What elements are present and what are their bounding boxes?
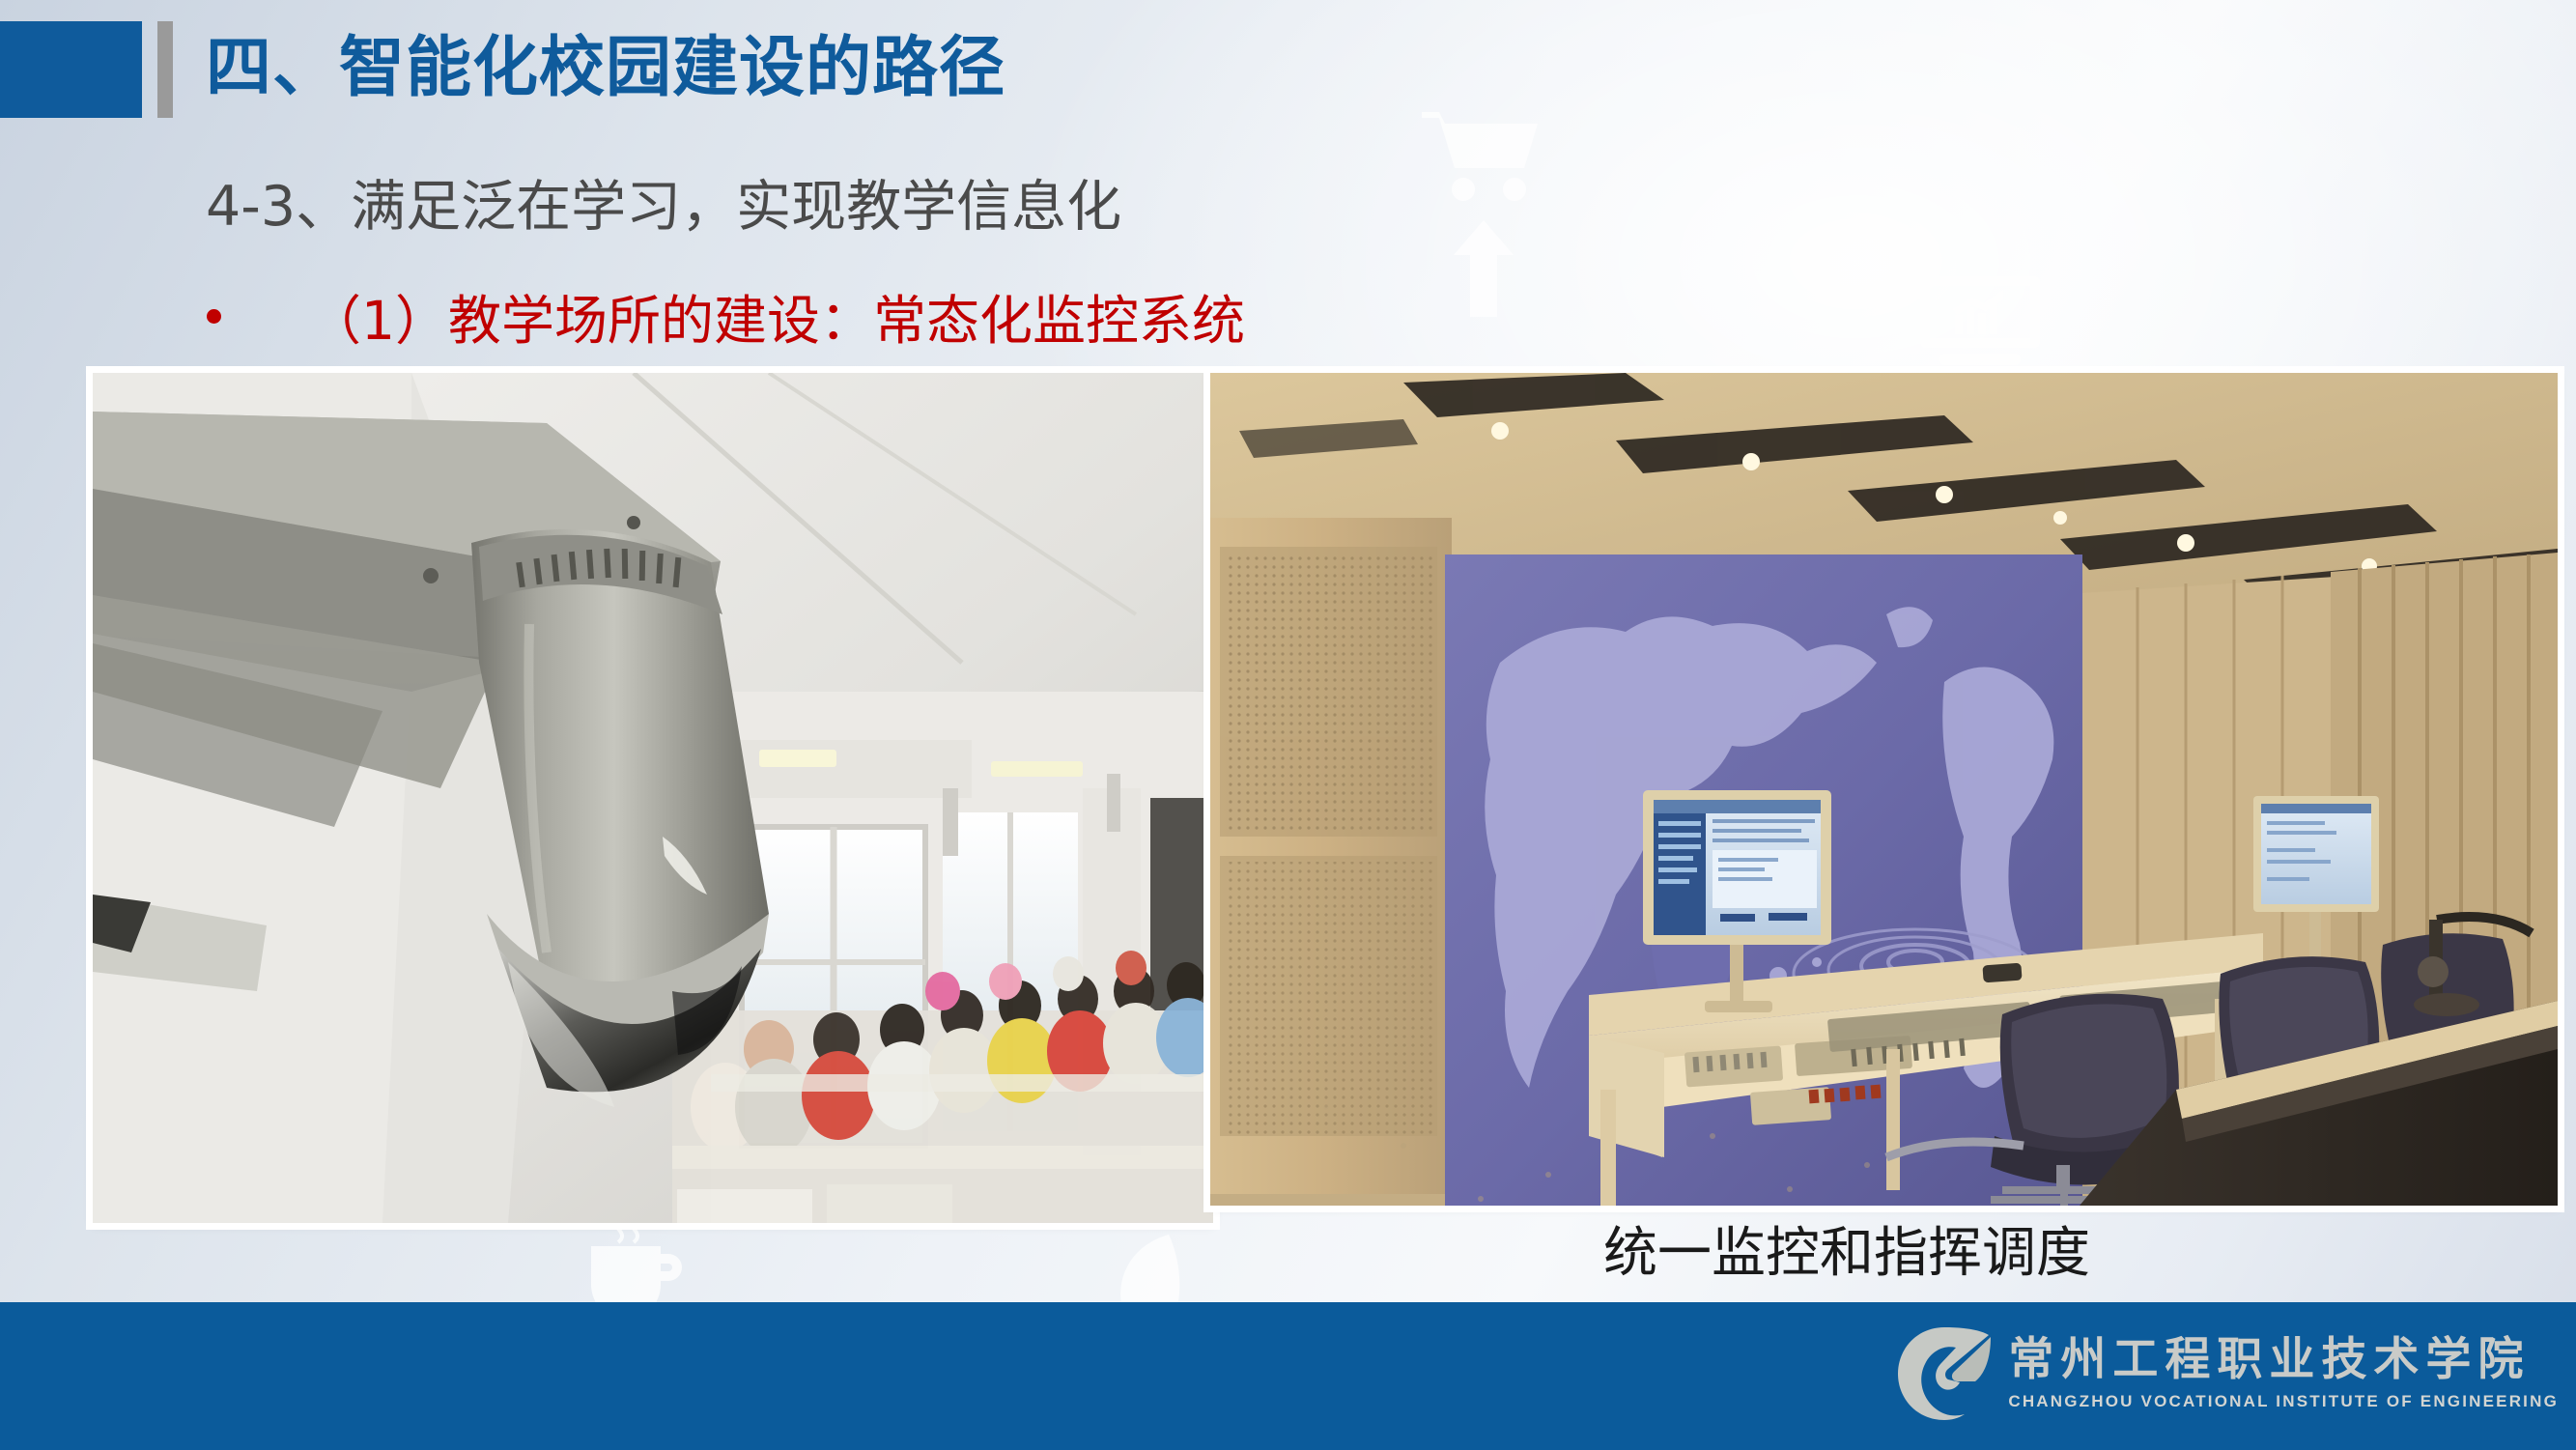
page-title: 四、智能化校园建设的路径 [206, 14, 1005, 109]
image-surveillance-camera-classroom [93, 373, 1213, 1223]
presentation-slide: 四、智能化校园建设的路径 4-3、满足泛在学习，实现教学信息化 （1）教学场所的… [0, 0, 2576, 1450]
monitor-chart-icon [1918, 272, 2042, 369]
image-control-room-console [1210, 373, 2558, 1206]
title-accent [0, 21, 173, 118]
up-arrow-icon [1454, 220, 1514, 317]
bullet-line: （1）教学场所的建设：常态化监控系统 [207, 277, 1245, 355]
institution-name-block: 常州工程职业技术学院 CHANGZHOU VOCATIONAL INSTITUT… [2008, 1336, 2559, 1411]
bullet-text: （1）教学场所的建设：常态化监控系统 [308, 277, 1245, 355]
shopping-cart-icon [1420, 106, 1545, 203]
title-blue-square [0, 21, 142, 118]
slide-subtitle: 4-3、满足泛在学习，实现教学信息化 [206, 162, 1121, 242]
title-gray-bar [157, 21, 173, 118]
institution-logo: 常州工程职业技术学院 CHANGZHOU VOCATIONAL INSTITUT… [1890, 1322, 2559, 1426]
bullet-dot-icon [207, 309, 221, 324]
institution-name-en: CHANGZHOU VOCATIONAL INSTITUTE OF ENGINE… [2008, 1392, 2559, 1411]
changzhou-institute-logo-icon [1890, 1322, 1998, 1426]
image-caption: 统一监控和指挥调度 [1603, 1209, 2090, 1288]
institution-name-cn: 常州工程职业技术学院 [2008, 1336, 2559, 1383]
slide-footer: 常州工程职业技术学院 CHANGZHOU VOCATIONAL INSTITUT… [0, 1302, 2576, 1450]
